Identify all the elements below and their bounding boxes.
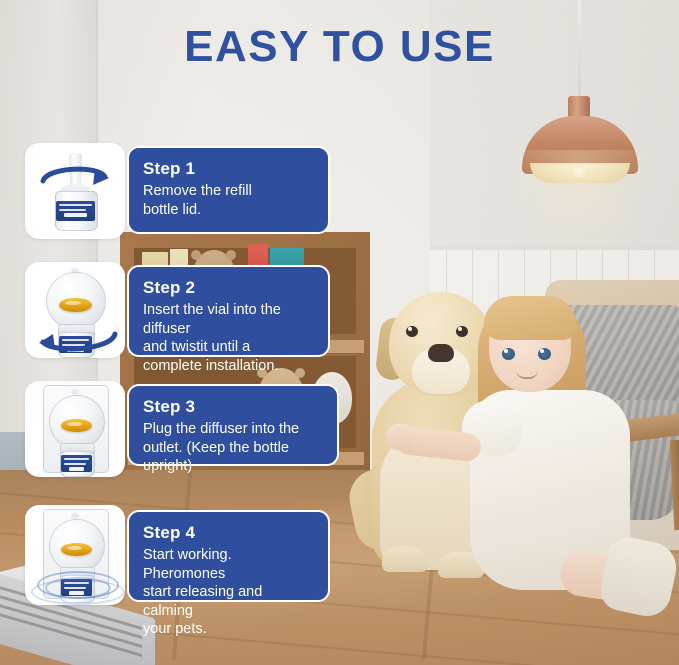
vent-highlight bbox=[65, 301, 81, 305]
step-1-card[interactable]: Step 1 Remove the refill bottle lid. bbox=[127, 146, 330, 234]
dog-eye-highlight bbox=[458, 327, 462, 331]
step-4-title: Step 4 bbox=[143, 523, 314, 543]
bottle-label bbox=[56, 201, 95, 221]
pheromone-ring bbox=[31, 579, 125, 605]
step-1-thumbnail bbox=[25, 143, 125, 239]
girl-hand bbox=[386, 424, 414, 450]
step-4-description: Start working. Pheromones start releasin… bbox=[143, 546, 314, 639]
girl-bangs bbox=[484, 296, 576, 340]
product-infographic: EASY TO USE Step 1 Remove the refill bbox=[0, 0, 679, 665]
diffuser-with-vial-insert-arrow-icon bbox=[25, 262, 125, 358]
teddy-bear-ear bbox=[226, 250, 236, 260]
dog-eye-highlight bbox=[408, 327, 412, 331]
refill-bottle-with-rotation-arrow-icon bbox=[25, 143, 125, 239]
step-3-title: Step 3 bbox=[143, 397, 323, 417]
step-2-title: Step 2 bbox=[143, 278, 314, 298]
step-2-thumbnail bbox=[25, 262, 125, 358]
step-1-title: Step 1 bbox=[143, 159, 314, 179]
diffuser-vent bbox=[59, 298, 92, 312]
step-2-card[interactable]: Step 2 Insert the vial into the diffuser… bbox=[127, 265, 330, 357]
insert-arrow-icon bbox=[27, 324, 123, 358]
teddy-bear-ear bbox=[191, 250, 201, 260]
girl-eye-highlight bbox=[540, 349, 544, 353]
rotation-arrow-icon bbox=[37, 161, 113, 195]
step-3-description: Plug the diffuser into the outlet. (Keep… bbox=[143, 420, 323, 476]
step-1-description: Remove the refill bottle lid. bbox=[143, 182, 314, 219]
bottle-label bbox=[61, 455, 92, 472]
step-2-description: Insert the vial into the diffuser and tw… bbox=[143, 301, 314, 375]
diffuser-plugged-into-outlet-icon bbox=[25, 381, 125, 477]
step-3-card[interactable]: Step 3 Plug the diffuser into the outlet… bbox=[127, 384, 339, 466]
lamp-bulb bbox=[572, 164, 586, 178]
vent-highlight bbox=[67, 546, 82, 550]
dog-paw bbox=[382, 546, 428, 572]
diffuser-releasing-pheromones-icon bbox=[25, 505, 125, 605]
girl-eye-highlight bbox=[504, 349, 508, 353]
step-4-card[interactable]: Step 4 Start working. Pheromones start r… bbox=[127, 510, 330, 602]
dog-nose bbox=[428, 344, 454, 362]
step-4-thumbnail bbox=[25, 505, 125, 605]
page-title: EASY TO USE bbox=[0, 22, 679, 72]
vent-highlight bbox=[67, 422, 82, 426]
step-3-thumbnail bbox=[25, 381, 125, 477]
